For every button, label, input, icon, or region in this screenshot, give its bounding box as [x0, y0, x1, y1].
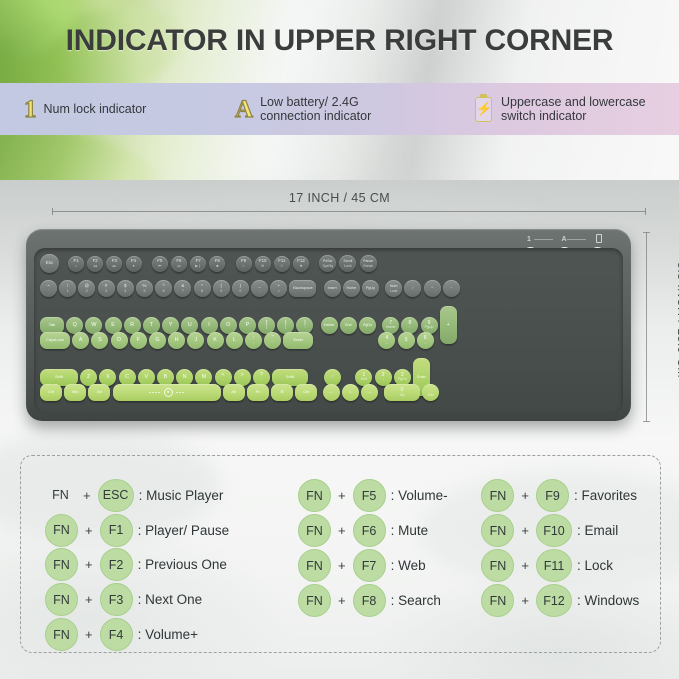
shortcut-row-f12: FN+F12: Windows	[481, 583, 660, 618]
shortcuts-panel: FN+ESC: Music PlayerFN+F1: Player/ Pause…	[20, 455, 661, 653]
key-legend: E	[111, 323, 115, 328]
key-9[interactable]: 9PgUp	[421, 317, 438, 334]
key-sublegend: ▶❘	[195, 264, 201, 268]
key-[interactable]: _-	[251, 280, 268, 297]
key-alt[interactable]: Alt	[88, 384, 110, 401]
key-r[interactable]: R	[124, 317, 141, 334]
key-sublegend: `	[48, 289, 49, 293]
shortcut-key-f5[interactable]: F5	[353, 479, 386, 512]
key-pgdn[interactable]: PgDn	[359, 317, 376, 334]
key-legend: V	[144, 375, 148, 380]
shortcut-fn-key[interactable]: FN	[45, 514, 78, 547]
shortcut-fn-key[interactable]: FN	[298, 479, 331, 512]
shortcut-key-esc[interactable]: ESC	[98, 479, 134, 512]
indicator-label-numlock: Num lock indicator	[44, 102, 147, 116]
width-dimension-line	[52, 211, 646, 212]
shortcut-fn-key[interactable]: FN	[45, 548, 78, 581]
key-legend: Alt	[231, 390, 236, 395]
key-1[interactable]: 1End	[355, 369, 372, 386]
key-[interactable]: *	[424, 280, 441, 297]
key-legend: L	[233, 338, 236, 343]
shortcut-description: : Next One	[138, 592, 203, 607]
key-[interactable]: !1	[59, 280, 76, 297]
key-[interactable]: |\	[296, 317, 313, 334]
key-4[interactable]: 4←	[378, 332, 395, 349]
key-[interactable]: <,	[215, 369, 232, 386]
led-indicator-cluster: 1 A	[521, 235, 607, 248]
key-sublegend: =	[278, 289, 280, 293]
key-sublegend: -	[259, 289, 260, 293]
shortcut-plus-sign: +	[83, 488, 91, 503]
dot	[149, 392, 151, 394]
key-sublegend: 5	[143, 289, 145, 293]
key-legend: Win	[72, 390, 79, 395]
key-sublegend: ;	[253, 341, 254, 345]
key-legend: Shift	[286, 375, 294, 380]
shortcut-plus-sign: +	[521, 558, 529, 573]
key-sublegend: \	[304, 325, 305, 329]
key-a[interactable]: A	[72, 332, 89, 349]
key-backspace[interactable]: Backspace	[289, 280, 316, 297]
led-label-capslock: A	[556, 236, 572, 244]
key-f3[interactable]: F3▸▸	[106, 256, 122, 272]
key-sublegend: .	[242, 377, 243, 381]
key-[interactable]: "'	[264, 332, 281, 349]
key-o[interactable]: O	[220, 317, 237, 334]
key-legend: G	[155, 338, 159, 343]
key-sublegend: ▸▸	[113, 264, 117, 268]
keyboard-product-image: 1 A EscF1♪F2◂◂F3▸▸F4●F5⏮F6⏭F7▶❘F8■F9☆F10…	[26, 229, 631, 421]
shortcut-key-f11[interactable]: F11	[536, 549, 572, 582]
key-[interactable]: ↑	[324, 369, 341, 386]
key-sublegend: SysRq	[322, 264, 333, 268]
shortcut-description: : Mute	[391, 523, 429, 538]
key-legend: Alt	[97, 390, 102, 395]
key-win[interactable]: Win	[64, 384, 86, 401]
key-delete[interactable]: Delete	[321, 317, 338, 334]
key-legend: J	[194, 338, 197, 343]
key-home[interactable]: Home	[343, 280, 360, 297]
key-0[interactable]: 0Ins	[384, 384, 420, 401]
key-legend: PgDn	[363, 323, 372, 328]
key-legend: N	[183, 375, 187, 380]
shortcut-row-f3: FN+F3: Next One	[45, 582, 296, 617]
key-v[interactable]: V	[138, 369, 155, 386]
shortcut-description: : Music Player	[139, 488, 224, 503]
key-ctrl[interactable]: Ctrl	[40, 384, 62, 401]
key-legend: CapsLock	[46, 338, 64, 343]
key-[interactable]: >.	[234, 369, 251, 386]
key-sublegend: [	[266, 325, 267, 329]
key-7[interactable]: 7Home	[382, 317, 399, 334]
key-legend: X	[106, 375, 110, 380]
key-sublegend: ↑	[409, 325, 411, 329]
shortcut-description: : Volume-	[391, 488, 448, 503]
shortcut-row-f11: FN+F11: Lock	[481, 548, 660, 583]
key-f10[interactable]: F10✉	[255, 256, 271, 272]
shortcut-fn-key[interactable]: FN	[481, 514, 514, 547]
indicator-item-case-switch: ⚡ Uppercase and lowercase switch indicat…	[473, 95, 646, 123]
key-c[interactable]: C	[119, 369, 136, 386]
key-sublegend: 4	[124, 289, 126, 293]
shortcut-plus-sign: +	[521, 488, 529, 503]
key-sublegend: Ins	[400, 393, 405, 397]
key-sublegend: Break	[363, 264, 372, 268]
shortcuts-column-2: FN+F5: Volume-FN+F6: MuteFN+F7: WebFN+F8…	[296, 478, 481, 652]
key-sublegend: ⏭	[177, 264, 180, 268]
shortcut-plus-sign: +	[338, 558, 346, 573]
dot	[152, 392, 154, 394]
keyboard-keywell: EscF1♪F2◂◂F3▸▸F4●F5⏮F6⏭F7▶❘F8■F9☆F10✉F11…	[34, 248, 623, 413]
key-legend: I	[208, 323, 210, 328]
key-fn[interactable]: Fn	[247, 384, 269, 401]
key-sublegend: /	[261, 377, 262, 381]
shortcut-fn-key[interactable]: FN	[481, 479, 514, 512]
shortcut-fn-key[interactable]: FN	[45, 618, 78, 651]
key-l[interactable]: L	[226, 332, 243, 349]
key-b[interactable]: B	[157, 369, 174, 386]
key-f11[interactable]: F11☉	[274, 256, 290, 272]
key-sublegend: ■	[216, 264, 218, 268]
key-[interactable]: −	[443, 280, 460, 297]
shortcut-fn-key[interactable]: FN	[45, 583, 78, 616]
key-[interactable]: ^6	[155, 280, 172, 297]
key-legend: Fn	[256, 390, 261, 395]
key-[interactable]: #3	[98, 280, 115, 297]
key-s[interactable]: S	[91, 332, 108, 349]
dot	[176, 392, 178, 394]
shortcut-key-f9[interactable]: F9	[536, 479, 569, 512]
key-sublegend: 6	[163, 289, 165, 293]
key-legend: ☰	[280, 390, 284, 395]
key-legend: ←	[329, 390, 334, 395]
key-legend: Enter	[417, 375, 426, 380]
key-legend: P	[246, 323, 250, 328]
key-pause[interactable]: PauseBreak	[360, 255, 377, 272]
shortcut-plus-sign: +	[85, 557, 93, 572]
key-k[interactable]: K	[207, 332, 224, 349]
key-d[interactable]: D	[111, 332, 128, 349]
indicator-label-line1-b: Uppercase and lowercase	[501, 95, 646, 109]
key-f[interactable]: F	[130, 332, 147, 349]
key-sublegend: ●	[132, 264, 134, 268]
shortcut-fn-key[interactable]: FN	[481, 584, 514, 617]
key-n[interactable]: N	[176, 369, 193, 386]
key-t[interactable]: T	[143, 317, 160, 334]
key-[interactable]: $4	[117, 280, 134, 297]
key-shift[interactable]: Shift	[272, 369, 308, 386]
key-legend: ↑	[332, 375, 335, 380]
key-[interactable]: /	[404, 280, 421, 297]
key-[interactable]: ~`	[40, 280, 57, 297]
dot	[158, 392, 160, 394]
key-3[interactable]: 3PgDn	[394, 369, 411, 386]
shortcut-description: : Player/ Pause	[138, 523, 230, 538]
key-sublegend: 8	[201, 289, 203, 293]
key-[interactable]: :;	[245, 332, 262, 349]
key-legend: −	[450, 286, 452, 291]
key-8[interactable]: 8↑	[401, 317, 418, 334]
key-row-home: CapsLockASDFGHJKL:;"'Enter4←56→	[34, 332, 623, 349]
key-sublegend: ↓	[382, 377, 384, 381]
shortcut-description: : Volume+	[138, 627, 198, 642]
shortcut-plus-sign: +	[338, 488, 346, 503]
shortcut-row-esc: FN+ESC: Music Player	[45, 478, 296, 513]
shortcut-key-f3[interactable]: F3	[100, 583, 133, 616]
key-legend: Z	[87, 375, 90, 380]
key-[interactable]: }]	[277, 317, 294, 334]
key-legend: K	[213, 338, 217, 343]
led-label-numlock: 1	[521, 236, 537, 244]
shortcut-row-f5: FN+F5: Volume-	[298, 478, 481, 513]
shortcut-fn-key[interactable]: FN	[45, 480, 76, 511]
key-[interactable]: {[	[258, 317, 275, 334]
shortcut-description: : Windows	[577, 593, 639, 608]
key-legend: Enter	[293, 338, 303, 343]
key-legend: Backspace	[293, 286, 313, 291]
key-j[interactable]: J	[187, 332, 204, 349]
key-f4[interactable]: F4●	[126, 256, 142, 272]
key-f8[interactable]: F8■	[209, 256, 225, 272]
key-sublegend: 2	[86, 289, 88, 293]
indicator-label-line2-b: switch indicator	[501, 109, 586, 123]
key-legend: D	[117, 338, 121, 343]
shortcut-key-f6[interactable]: F6	[353, 514, 386, 547]
key-f2[interactable]: F2◂◂	[87, 256, 103, 272]
shortcut-key-f7[interactable]: F7	[353, 549, 386, 582]
key-[interactable]: @2	[78, 280, 95, 297]
key-sublegend: 1	[67, 289, 69, 293]
spacebar-logo-dots: ●	[149, 388, 184, 397]
shortcut-key-f12[interactable]: F12	[536, 584, 572, 617]
key-legend: /	[412, 286, 413, 291]
brand-logo-icon: ●	[164, 388, 173, 397]
key-[interactable]: %5	[136, 280, 153, 297]
key-pgup[interactable]: PgUp	[362, 280, 379, 297]
key-legend: *	[431, 286, 432, 291]
key-sublegend: Lock	[390, 289, 398, 293]
key-num[interactable]: NumLock	[385, 280, 402, 297]
shortcut-fn-key[interactable]: FN	[298, 584, 331, 617]
key-legend: W	[91, 323, 96, 328]
shortcut-row-f2: FN+F2: Previous One	[45, 548, 296, 583]
key-[interactable]: ?/	[253, 369, 270, 386]
key-e[interactable]: E	[105, 317, 122, 334]
shortcuts-column-3: FN+F9: FavoritesFN+F10: EmailFN+F11: Loc…	[481, 478, 660, 652]
shortcut-row-f6: FN+F6: Mute	[298, 513, 481, 548]
shortcut-key-f2[interactable]: F2	[100, 548, 133, 581]
shortcut-row-f1: FN+F1: Player/ Pause	[45, 513, 296, 548]
key-legend: Insert	[328, 286, 337, 291]
key-2[interactable]: 2↓	[375, 369, 392, 386]
shortcut-plus-sign: +	[85, 523, 93, 538]
key-legend: H	[175, 338, 179, 343]
shortcut-row-f8: FN+F8: Search	[298, 583, 481, 618]
key-row-number: ~`!1@2#3$4%5^6&7*8(9)0_-+=BackspaceInser…	[34, 280, 623, 297]
shortcut-key-f10[interactable]: F10	[536, 514, 572, 547]
shortcut-plus-sign: +	[521, 593, 529, 608]
key-u[interactable]: U	[181, 317, 198, 334]
width-dimension-label: 17 INCH / 45 CM	[0, 191, 679, 205]
key-f7[interactable]: F7▶❘	[190, 256, 206, 272]
key-z[interactable]: Z	[80, 369, 97, 386]
key-enter[interactable]: Enter	[283, 332, 313, 349]
key-f12[interactable]: F12❖	[293, 256, 309, 272]
key-q[interactable]: Q	[66, 317, 83, 334]
height-dimension-line	[646, 232, 647, 422]
key-[interactable]: .Del	[422, 384, 439, 401]
shortcut-fn-key[interactable]: FN	[298, 549, 331, 582]
key-sublegend: 3	[105, 289, 107, 293]
key-legend: U	[188, 323, 192, 328]
key-legend: A	[79, 338, 83, 343]
key-f1[interactable]: F1♪	[68, 256, 84, 272]
battery-bolt-icon: ⚡	[475, 97, 492, 122]
key-legend: Ctrl	[303, 390, 309, 395]
shortcut-description: : Search	[391, 593, 441, 608]
key-end[interactable]: End	[340, 317, 357, 334]
shortcut-fn-key[interactable]: FN	[298, 514, 331, 547]
indicator-label-battery-connection: Low battery/ 2.4G connection indicator	[260, 95, 371, 123]
key-f9[interactable]: F9☆	[236, 256, 252, 272]
key-6[interactable]: 6→	[417, 332, 434, 349]
key-[interactable]: )0	[232, 280, 249, 297]
key-alt[interactable]: Alt	[223, 384, 245, 401]
key-legend: Esc	[46, 261, 53, 266]
dot	[182, 392, 184, 394]
shortcut-plus-sign: +	[85, 627, 93, 642]
key-y[interactable]: Y	[162, 317, 179, 334]
key-sublegend: ♪	[75, 264, 77, 268]
key-legend: Home	[347, 286, 357, 291]
shortcut-row-f7: FN+F7: Web	[298, 548, 481, 583]
shortcut-key-f4[interactable]: F4	[100, 618, 133, 651]
page-title: INDICATOR IN UPPER RIGHT CORNER	[0, 24, 679, 58]
key-legend: R	[130, 323, 134, 328]
numlock-digit-icon: 1	[24, 97, 37, 122]
key-w[interactable]: W	[85, 317, 102, 334]
key-sublegend: →	[424, 341, 428, 345]
key-sublegend: Del	[428, 393, 433, 397]
shortcut-key-f8[interactable]: F8	[353, 584, 386, 617]
key-legend: O	[226, 323, 230, 328]
key-sublegend: 7	[182, 289, 184, 293]
key-legend: Shift	[55, 375, 63, 380]
key-sublegend: Home	[386, 325, 396, 329]
key-x[interactable]: X	[99, 369, 116, 386]
key-prtscr[interactable]: PrtScrSysRq	[319, 255, 336, 272]
indicator-label-line2: connection indicator	[260, 109, 371, 123]
key-sublegend: ◂◂	[93, 264, 97, 268]
key-scroll[interactable]: ScrollLock	[339, 255, 356, 272]
shortcut-description: : Previous One	[138, 557, 227, 572]
key-esc[interactable]: Esc	[40, 254, 59, 273]
key-legend: Tab	[49, 323, 55, 328]
led-label-row: 1 A	[521, 235, 607, 244]
shortcut-row-f9: FN+F9: Favorites	[481, 478, 660, 513]
key-sublegend: ]	[285, 325, 286, 329]
indicator-label-case-switch: Uppercase and lowercase switch indicator	[501, 95, 646, 123]
key-legend: C	[125, 375, 129, 380]
mini-battery-icon	[596, 234, 602, 243]
key-sublegend: Lock	[344, 264, 352, 268]
key-g[interactable]: G	[149, 332, 166, 349]
key-h[interactable]: H	[168, 332, 185, 349]
key-capslock[interactable]: CapsLock	[40, 332, 70, 349]
key-sublegend: 9	[220, 289, 222, 293]
key-5[interactable]: 5	[398, 332, 415, 349]
key-p[interactable]: P	[239, 317, 256, 334]
shortcut-plus-sign: +	[338, 523, 346, 538]
key-[interactable]: (9	[213, 280, 230, 297]
shortcut-description: : Favorites	[574, 488, 637, 503]
key-sublegend: ←	[385, 341, 389, 345]
key-[interactable]: ☰	[271, 384, 293, 401]
key-sublegend: ☆	[242, 264, 245, 268]
key-legend: →	[367, 390, 372, 395]
key-spacebar[interactable]: ●	[113, 384, 221, 401]
key-tab[interactable]: Tab	[40, 317, 64, 334]
shortcuts-columns: FN+ESC: Music PlayerFN+F1: Player/ Pause…	[21, 456, 660, 652]
key-[interactable]: →	[361, 384, 378, 401]
key-legend: Delete	[324, 323, 334, 328]
key-legend: T	[150, 323, 153, 328]
key-sublegend: PgDn	[398, 377, 407, 381]
key-legend: 5	[405, 338, 408, 343]
shortcut-plus-sign: +	[338, 593, 346, 608]
indicator-item-numlock: 1 Num lock indicator	[24, 97, 229, 122]
key-row-function: EscF1♪F2◂◂F3▸▸F4●F5⏮F6⏭F7▶❘F8■F9☆F10✉F11…	[34, 254, 623, 273]
infographic-page: INDICATOR IN UPPER RIGHT CORNER 1 Num lo…	[0, 0, 679, 679]
key-legend: F	[137, 338, 140, 343]
key-[interactable]: +=	[270, 280, 287, 297]
key-legend: M	[202, 375, 207, 380]
shortcut-key-f1[interactable]: F1	[100, 514, 133, 547]
keyboard-top-strip: 1 A	[36, 233, 621, 246]
key-sublegend: 0	[239, 289, 241, 293]
key-sublegend: '	[272, 341, 273, 345]
height-dimension-label: 5.5 INCH / 13.9 CM	[675, 230, 679, 410]
shortcut-description: : Web	[391, 558, 426, 573]
key-sublegend: ❖	[299, 264, 302, 268]
dot	[155, 392, 157, 394]
key-ctrl[interactable]: Ctrl	[295, 384, 317, 401]
key-f5[interactable]: F5⏮	[152, 256, 168, 272]
shortcut-fn-key[interactable]: FN	[481, 549, 514, 582]
key-shift[interactable]: Shift	[40, 369, 78, 386]
key-sublegend: ,	[223, 377, 224, 381]
key-[interactable]: *8	[194, 280, 211, 297]
dot	[179, 392, 181, 394]
shortcuts-column-1: FN+ESC: Music PlayerFN+F1: Player/ Pause…	[21, 478, 296, 652]
key-[interactable]: ←	[323, 384, 340, 401]
key-[interactable]: &7	[174, 280, 191, 297]
shortcut-plus-sign: +	[521, 523, 529, 538]
shortcut-row-f10: FN+F10: Email	[481, 513, 660, 548]
indicator-banner: 1 Num lock indicator A Low battery/ 2.4G…	[0, 83, 679, 135]
key-sublegend: ⏮	[158, 264, 161, 268]
key-i[interactable]: I	[201, 317, 218, 334]
key-f6[interactable]: F6⏭	[171, 256, 187, 272]
key-[interactable]: ↓	[342, 384, 359, 401]
indicator-item-battery-connection: A Low battery/ 2.4G connection indicator	[235, 95, 465, 123]
key-legend: S	[98, 338, 102, 343]
key-legend: Y	[169, 323, 173, 328]
key-insert[interactable]: Insert	[324, 280, 341, 297]
key-sublegend: PgUp	[425, 325, 434, 329]
key-m[interactable]: M	[195, 369, 212, 386]
key-legend: B	[164, 375, 168, 380]
